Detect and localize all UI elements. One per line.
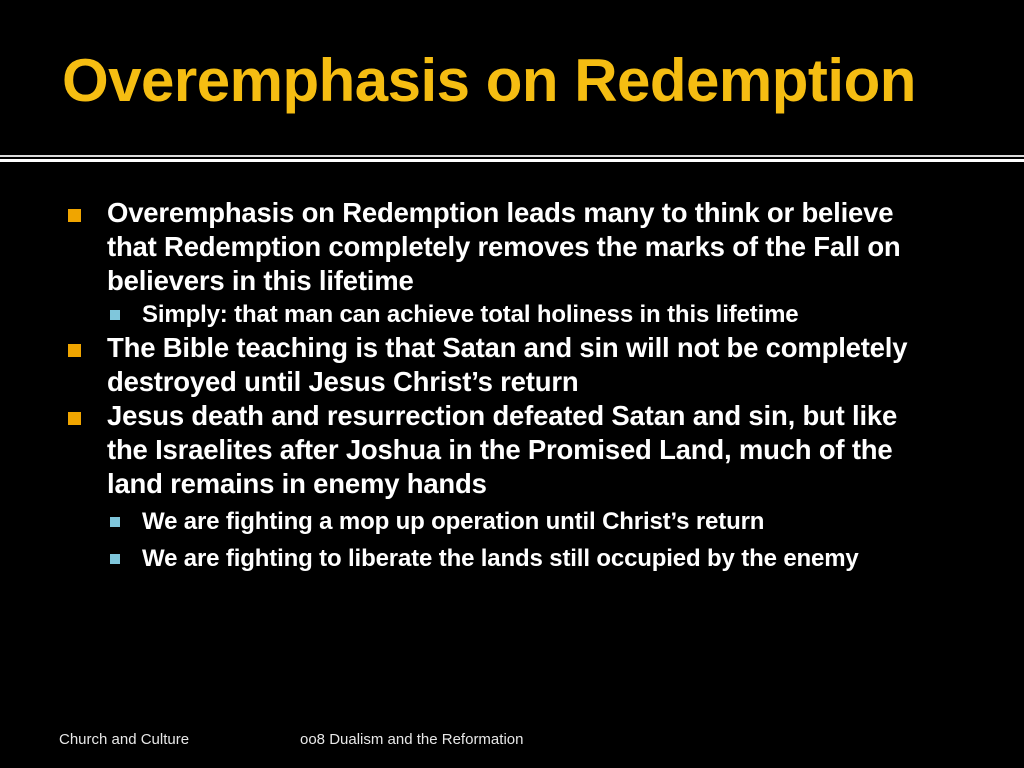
square-bullet-icon	[68, 412, 81, 425]
square-bullet-icon	[68, 209, 81, 222]
square-bullet-icon	[68, 344, 81, 357]
list-item: Overemphasis on Redemption leads many to…	[0, 196, 1024, 298]
list-item-text: We are fighting a mop up operation until…	[142, 505, 932, 538]
small-square-bullet-icon	[110, 554, 120, 564]
divider-line-thick	[0, 159, 1024, 162]
footer-course-label: Church and Culture	[59, 730, 189, 750]
small-square-bullet-icon	[110, 310, 120, 320]
list-item-text: Simply: that man can achieve total holin…	[142, 298, 932, 331]
title-band: Overemphasis on Redemption	[0, 0, 1024, 158]
list-item: We are fighting a mop up operation until…	[0, 505, 1024, 538]
page-title: Overemphasis on Redemption	[62, 46, 982, 116]
list-item-text: The Bible teaching is that Satan and sin…	[107, 331, 937, 399]
list-item-text: Overemphasis on Redemption leads many to…	[107, 196, 937, 298]
small-square-bullet-icon	[110, 517, 120, 527]
list-item: Simply: that man can achieve total holin…	[0, 298, 1024, 331]
title-divider	[0, 155, 1024, 165]
list-item: The Bible teaching is that Satan and sin…	[0, 331, 1024, 399]
footer-lesson-label: oo8 Dualism and the Reformation	[300, 730, 523, 750]
slide-body: Overemphasis on Redemption leads many to…	[0, 196, 1024, 696]
list-item-text: We are fighting to liberate the lands st…	[142, 542, 932, 575]
slide-footer: Church and Culture oo8 Dualism and the R…	[0, 730, 1024, 756]
presentation-slide: Overemphasis on Redemption Overemphasis …	[0, 0, 1024, 768]
list-item-text: Jesus death and resurrection defeated Sa…	[107, 399, 937, 501]
list-item: Jesus death and resurrection defeated Sa…	[0, 399, 1024, 501]
bullet-list: Overemphasis on Redemption leads many to…	[0, 196, 1024, 575]
list-item: We are fighting to liberate the lands st…	[0, 542, 1024, 575]
